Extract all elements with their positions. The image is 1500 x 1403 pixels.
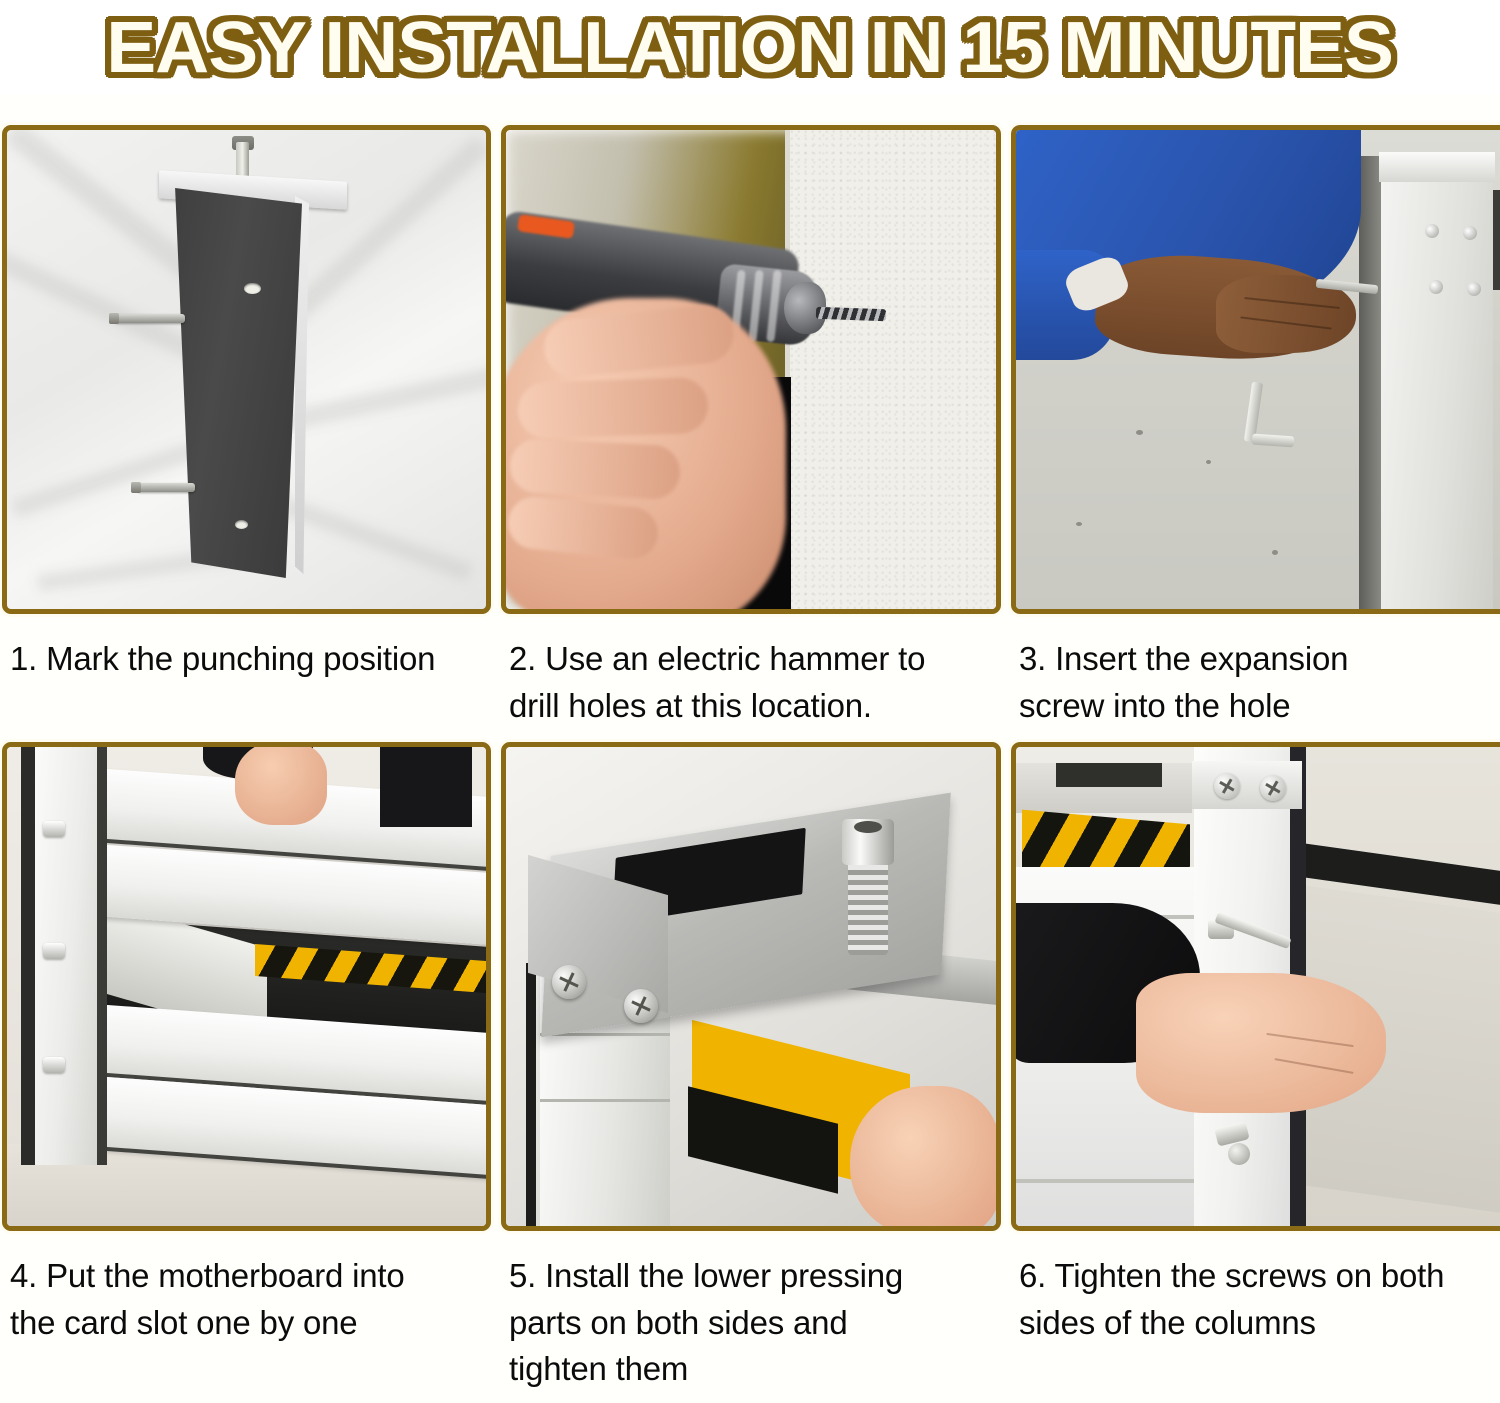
step-caption-6: 6. Tighten the screws on both sides of t… [1011,1231,1500,1347]
step-caption-5: 5. Install the lower pressing parts on b… [501,1231,1001,1394]
caption-line: 4. Put the motherboard into [10,1253,485,1300]
caption-line: parts on both sides and [509,1300,995,1347]
step-photo-5 [501,742,1001,1231]
caption-line: 1. Mark the punching position [10,636,485,683]
step-photo-3 [1011,125,1500,614]
page-title: EASY INSTALLATION IN 15 MINUTES [107,7,1394,89]
step-caption-1: 1. Mark the punching position [2,614,491,683]
step-caption-4: 4. Put the motherboard into the card slo… [2,1231,491,1347]
step-caption-3: 3. Insert the expansion screw into the h… [1011,614,1500,730]
steps-row-bottom: 4. Put the motherboard into the card slo… [0,742,1500,1394]
caption-line: sides of the columns [1019,1300,1500,1347]
step-photo-4 [2,742,491,1231]
header-banner: EASY INSTALLATION IN 15 MINUTES [0,0,1500,95]
caption-line: drill holes at this location. [509,683,995,730]
caption-line: 3. Insert the expansion [1019,636,1500,683]
step-card-1: 1. Mark the punching position [2,125,491,730]
step-card-5: 5. Install the lower pressing parts on b… [501,742,1001,1394]
step-photo-2 [501,125,1001,614]
step-photo-6 [1011,742,1500,1231]
steps-row-top: 1. Mark the punching position 2. [0,125,1500,730]
caption-line: 5. Install the lower pressing [509,1253,995,1300]
step-card-3: 3. Insert the expansion screw into the h… [1011,125,1500,730]
caption-line: 2. Use an electric hammer to [509,636,995,683]
caption-line: 6. Tighten the screws on both [1019,1253,1500,1300]
step-photo-1 [2,125,491,614]
step-card-2: 2. Use an electric hammer to drill holes… [501,125,1001,730]
caption-line: the card slot one by one [10,1300,485,1347]
caption-line: tighten them [509,1346,995,1393]
step-caption-2: 2. Use an electric hammer to drill holes… [501,614,1001,730]
step-card-4: 4. Put the motherboard into the card slo… [2,742,491,1394]
step-card-6: 6. Tighten the screws on both sides of t… [1011,742,1500,1394]
caption-line: screw into the hole [1019,683,1500,730]
